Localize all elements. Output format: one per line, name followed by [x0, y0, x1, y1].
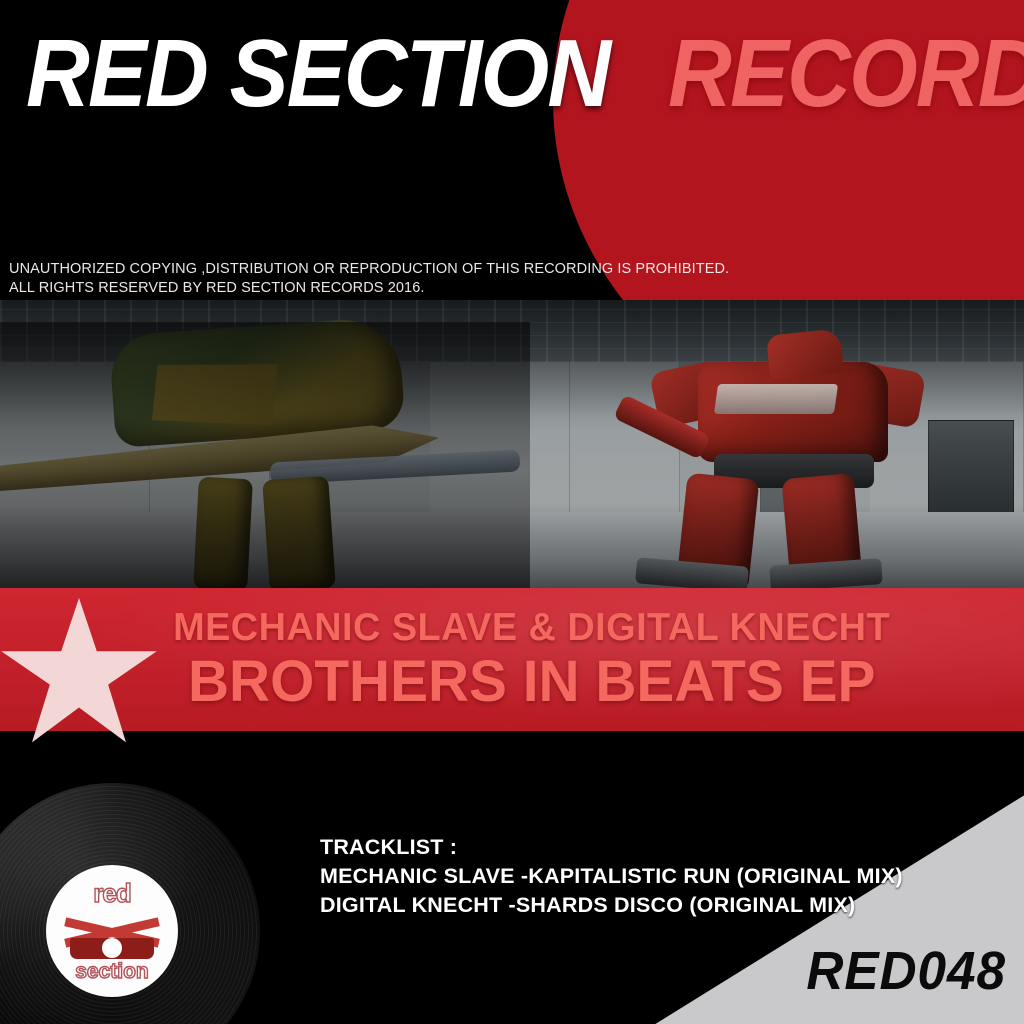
label-logo: RED SECTION RECORDS: [0, 14, 1024, 134]
title-banner-text: MECHANIC SLAVE & DIGITAL KNECHT BROTHERS…: [0, 588, 1024, 731]
tracklist-item: DIGITAL KNECHT -SHARDS DISCO (ORIGINAL M…: [320, 891, 903, 920]
album-cover: RED SECTION RECORDS UNAUTHORIZED COPYING…: [0, 0, 1024, 1024]
artist-names: MECHANIC SLAVE & DIGITAL KNECHT: [173, 608, 890, 647]
copyright-line-1: UNAUTHORIZED COPYING ,DISTRIBUTION OR RE…: [9, 260, 729, 279]
copyright-notice: UNAUTHORIZED COPYING ,DISTRIBUTION OR RE…: [9, 260, 729, 297]
green-mech-leg: [193, 477, 253, 590]
catalogue-number: RED048: [50, 940, 1006, 1002]
tracklist: TRACKLIST : MECHANIC SLAVE -KAPITALISTIC…: [320, 833, 903, 920]
tracklist-heading: TRACKLIST :: [320, 833, 903, 862]
green-mech: [0, 322, 530, 590]
red-mech-panel: [714, 384, 838, 414]
tracklist-item: MECHANIC SLAVE -KAPITALISTIC RUN (ORIGIN…: [320, 862, 903, 891]
green-mech-leg: [262, 476, 336, 590]
copyright-line-2: ALL RIGHTS RESERVED BY RED SECTION RECOR…: [9, 279, 729, 298]
vinyl-label-top-word: red: [93, 880, 130, 906]
red-mech-foot: [769, 558, 883, 590]
artwork-photo: [0, 300, 1024, 590]
red-mech: [620, 326, 950, 590]
label-name-primary: RED SECTION: [26, 26, 609, 122]
release-title: BROTHERS IN BEATS EP: [188, 653, 875, 711]
red-mech-head: [766, 328, 844, 379]
label-name-secondary: RECORDS: [668, 26, 1024, 122]
